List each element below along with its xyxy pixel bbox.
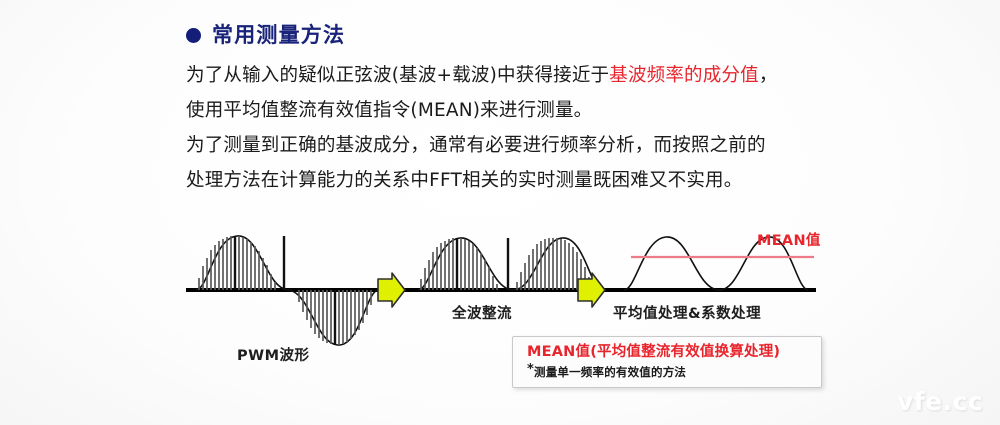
page-title-label: 常用测量方法	[212, 25, 345, 46]
body-line-3: 为了测量到正确的基波成分，通常有必要进行频率分析，而按照之前的	[186, 128, 886, 163]
body-line-1: 为了从输入的疑似正弦波(基波+载波)中获得接近于基波频率的成分值，	[186, 58, 886, 93]
note-box-subtitle-text: 测量单一频率的有效值的方法	[534, 365, 686, 379]
watermark: vfe.cc	[897, 389, 983, 414]
asterisk-icon: *	[527, 362, 534, 377]
body-line-2: 使用平均值整流有效值指令(MEAN)来进行测量。	[186, 93, 886, 128]
page-title: 常用测量方法	[186, 25, 345, 46]
body-line-1-pre: 为了从输入的疑似正弦波(基波+载波)中获得接近于	[186, 65, 609, 86]
body-line-1-highlight: 基波频率的成分值	[609, 65, 759, 86]
body-line-4: 处理方法在计算能力的关系中FFT相关的实时测量既困难又不实用。	[186, 163, 886, 198]
pwm-pulses-positive	[199, 236, 284, 290]
fullwave-waveform-group	[418, 238, 602, 290]
body-line-4-pre: 处理方法在计算能力的关系中FFT相关的实时测量既困难又不实用。	[186, 170, 742, 191]
note-box: MEAN值(平均值整流有效值换算处理) *测量单一频率的有效值的方法	[512, 336, 822, 388]
note-box-title: MEAN值(平均值整流有效值换算处理)	[527, 342, 821, 362]
note-box-subtitle: *测量单一频率的有效值的方法	[527, 362, 821, 380]
fullwave-envelope	[418, 238, 602, 290]
mean-line-label: MEAN值	[757, 229, 821, 250]
caption-pwm-waveform: PWM波形	[237, 344, 310, 365]
right-arrow-icon-1	[378, 273, 405, 307]
fullwave-pulses	[421, 238, 593, 290]
pwm-pulses-negative	[299, 290, 371, 345]
pwm-waveform-group	[196, 236, 378, 345]
body-line-2-pre: 使用平均值整流有效值指令(MEAN)来进行测量。	[186, 100, 592, 121]
right-arrow-icon-2	[578, 273, 605, 307]
filled-circle-icon	[186, 28, 201, 43]
caption-full-wave-rectification: 全波整流	[452, 302, 512, 323]
body-paragraph: 为了从输入的疑似正弦波(基波+载波)中获得接近于基波频率的成分值， 使用平均值整…	[186, 58, 886, 198]
slide-canvas: 常用测量方法 为了从输入的疑似正弦波(基波+载波)中获得接近于基波频率的成分值，…	[0, 0, 1000, 425]
pwm-sine-envelope	[196, 236, 378, 345]
caption-mean-processing: 平均值处理&系数处理	[613, 302, 761, 323]
body-line-1-post: ，	[759, 65, 778, 86]
body-line-3-pre: 为了测量到正确的基波成分，通常有必要进行频率分析，而按照之前的	[186, 135, 766, 156]
